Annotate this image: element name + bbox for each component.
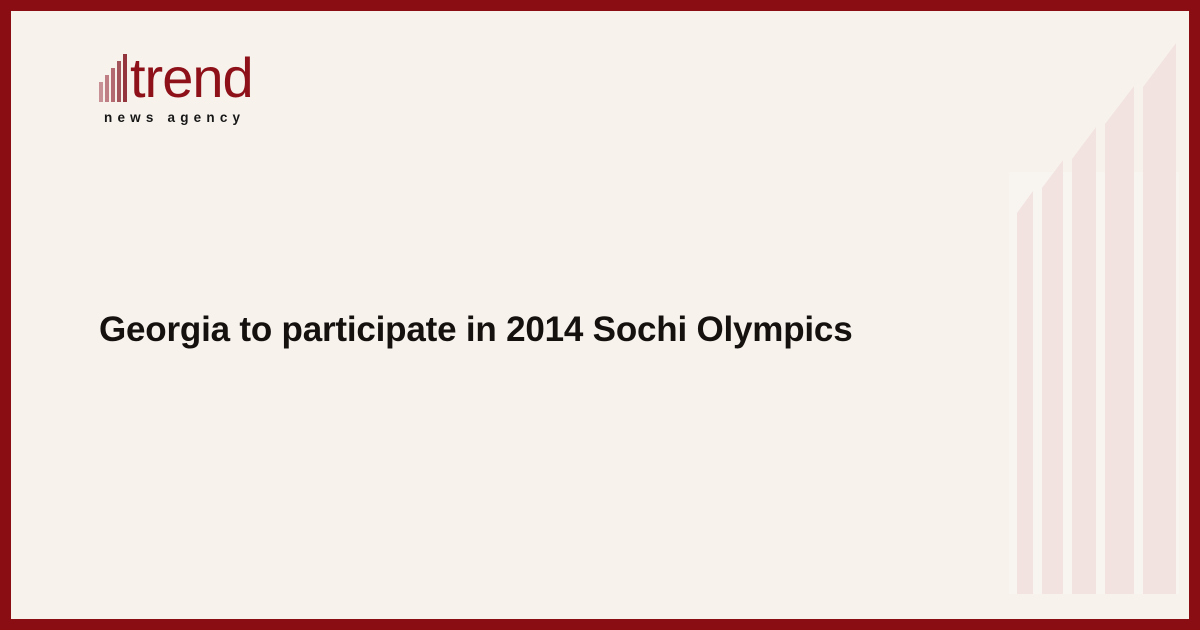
rising-bars-logo-icon xyxy=(99,52,129,104)
article-headline: Georgia to participate in 2014 Sochi Oly… xyxy=(99,307,979,353)
rising-bars-watermark xyxy=(1009,172,1179,594)
logo-mark-row: trend xyxy=(99,46,339,104)
logo-bar-3 xyxy=(111,68,115,102)
logo-tagline: news agency xyxy=(104,110,339,125)
watermark-bar-4 xyxy=(1105,86,1134,594)
logo-bar-5 xyxy=(123,54,127,102)
watermark-bar-2 xyxy=(1042,160,1063,594)
logo-bar-2 xyxy=(105,75,109,102)
card-canvas: trend news agency Georgia to participate… xyxy=(11,11,1189,619)
watermark-bar-5 xyxy=(1143,43,1176,594)
article-share-card: trend news agency Georgia to participate… xyxy=(0,0,1200,630)
watermark-bar-3 xyxy=(1072,127,1096,594)
brand-logo[interactable]: trend news agency xyxy=(99,46,339,125)
watermark-bar-1 xyxy=(1017,191,1033,594)
logo-wordmark: trend xyxy=(130,52,253,104)
logo-bar-1 xyxy=(99,82,103,102)
logo-bar-4 xyxy=(117,61,121,102)
